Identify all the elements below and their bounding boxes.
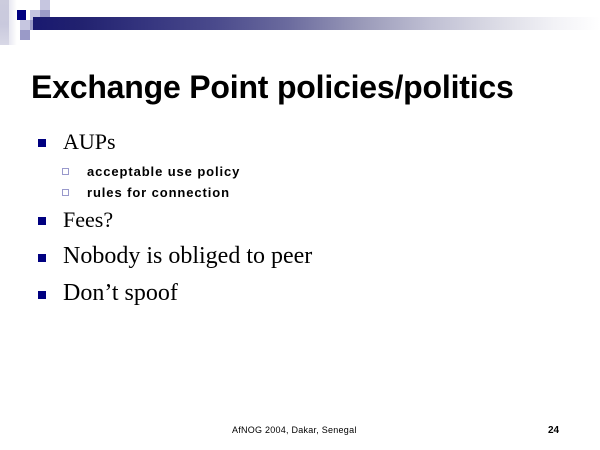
- deco-square-1: [17, 0, 26, 10]
- bullet-label: AUPs: [63, 128, 116, 155]
- bullet-item-aups: AUPs: [0, 128, 116, 158]
- deco-square-6: [20, 20, 30, 30]
- bullet-label: Fees?: [63, 206, 113, 233]
- bullet-item-rules-for-connection: rules for connection: [0, 183, 230, 203]
- header-decoration: [0, 0, 600, 45]
- bullet-item-dont-spoof: Don’t spoof: [0, 278, 178, 308]
- filled-square-bullet-icon: [38, 254, 46, 262]
- filled-square-bullet-icon: [38, 139, 46, 147]
- hollow-square-bullet-icon: [62, 168, 69, 175]
- bullet-label: Don’t spoof: [63, 278, 178, 308]
- deco-square-3: [17, 10, 26, 20]
- bullet-label: Nobody is obliged to peer: [63, 241, 312, 271]
- page-number: 24: [548, 424, 559, 437]
- bullet-item-acceptable-use-policy: acceptable use policy: [0, 162, 240, 182]
- filled-square-bullet-icon: [38, 217, 46, 225]
- deco-square-8: [20, 30, 30, 40]
- slide-footer: AfNOG 2004, Dakar, Senegal 24: [0, 424, 600, 444]
- filled-square-bullet-icon: [38, 291, 46, 299]
- bullet-label: rules for connection: [87, 183, 230, 203]
- slide: Exchange Point policies/politics AUPs ac…: [0, 0, 600, 450]
- footer-event-text: AfNOG 2004, Dakar, Senegal: [232, 424, 357, 437]
- hollow-square-bullet-icon: [62, 189, 69, 196]
- deco-left-fade-strip-2: [9, 0, 17, 45]
- slide-title: Exchange Point policies/politics: [31, 68, 576, 106]
- bullet-label: acceptable use policy: [87, 162, 240, 182]
- deco-square-2: [40, 0, 50, 10]
- bullet-item-fees: Fees?: [0, 206, 113, 236]
- bullet-item-nobody-obliged-to-peer: Nobody is obliged to peer: [0, 241, 312, 271]
- header-gradient-bar: [33, 17, 600, 30]
- deco-left-fade-strip: [0, 0, 9, 45]
